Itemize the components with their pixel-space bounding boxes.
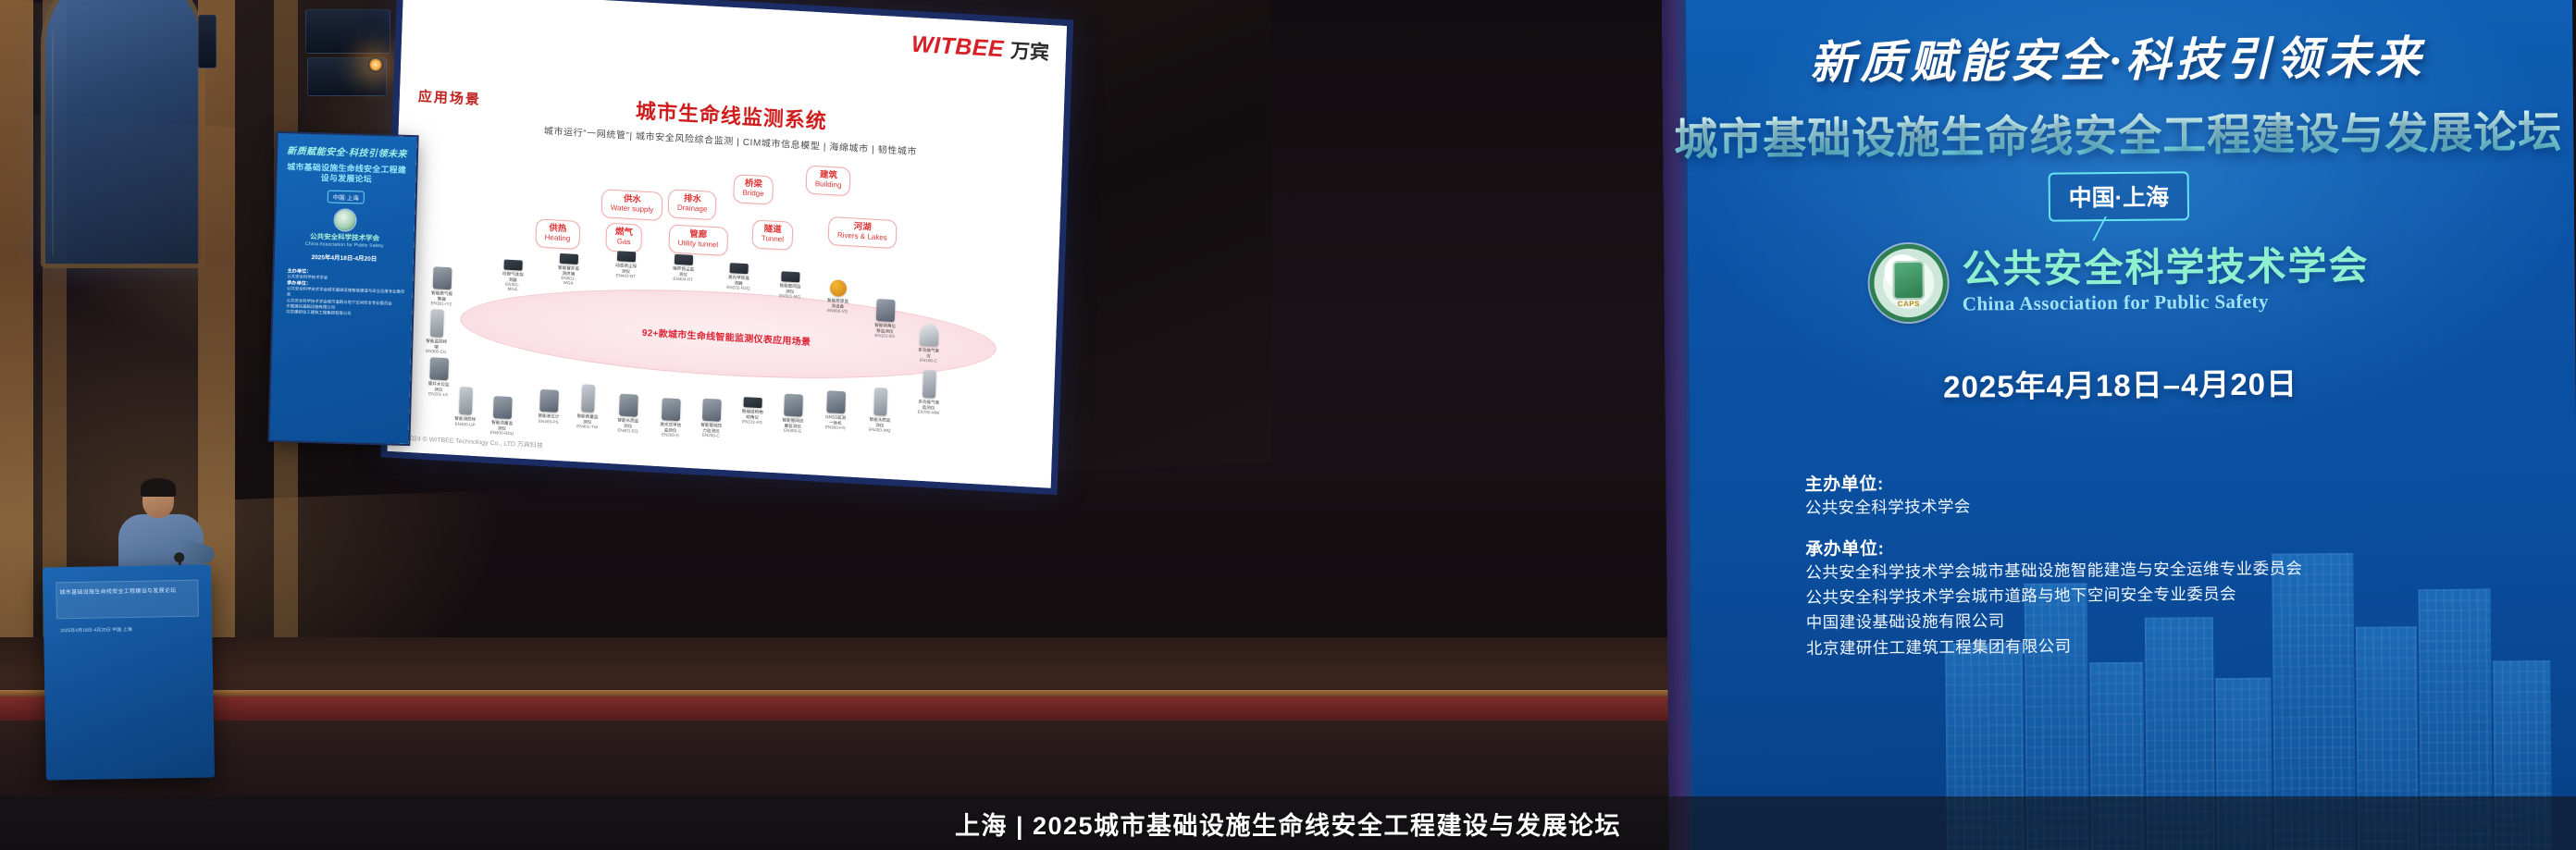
- device-item: 智能雨量监测仪 EN401-TW: [576, 384, 601, 430]
- device-item: GNSS监测一体机 EN300-HS: [824, 390, 848, 431]
- device-item: 智能倾角位移监测仪 EN101-BS: [873, 299, 898, 339]
- device-item: 多功能气象仪 EN100-C: [916, 324, 941, 364]
- conference-banner: 新质赋能安全·科技引领未来 城市基础设施生命线安全工程建设与发展论坛 中国·上海…: [1662, 0, 2576, 850]
- lifeline-diagram: 供水 Water supply 排水 Drainage 桥梁 Bridge: [411, 136, 1046, 456]
- scenario-bubble: 管廊 Utility tunnel: [668, 224, 728, 255]
- device-model: EN401-TW: [576, 424, 600, 429]
- device-icon: [662, 398, 681, 421]
- truss-bar: [198, 15, 217, 68]
- banner-slogan: 新质赋能安全·科技引领未来: [1662, 20, 2573, 94]
- witbee-logo-cn: 万宾: [1010, 36, 1050, 66]
- mini-banner-location-chip: 中国·上海: [327, 190, 365, 203]
- banner-organization-row: CAPS 公共安全科学技术学会 China Association for Pu…: [1664, 239, 2575, 325]
- device-icon: [784, 394, 803, 417]
- podium-line-2: 2025年4月18日-4月20日 中国·上海: [60, 627, 132, 635]
- device-item: 智能桥梁监测设备 EN600-VD: [825, 279, 850, 314]
- device-item: 多功能气象监测仪 EN700-MW: [916, 370, 942, 416]
- device-model: EN300-G: [781, 428, 805, 434]
- presentation-screen: WITBEE 万宾 应用场景 城市生命线监测系统 城市运行“一网统管”| 城市安…: [388, 0, 1067, 488]
- device-icon: [560, 253, 578, 265]
- device-model: EN409-PS: [537, 418, 561, 424]
- bubble-en: Building: [815, 180, 842, 191]
- speaker-array: [305, 9, 390, 54]
- bubble-en: Rivers & Lakes: [837, 231, 887, 242]
- device-item: 智能管网压力监测仪 EN200-C: [699, 399, 724, 439]
- device-icon: [876, 299, 896, 322]
- mini-banner-host-block: 主办单位： 公共安全科学技术学会 承办单位： 公共安全科学技术学会城市基础设施智…: [280, 267, 405, 319]
- device-model: EN201-LK: [427, 391, 451, 397]
- device-model: EN501-WGA: [556, 276, 580, 286]
- bubble-en: Drainage: [677, 203, 708, 214]
- device-item: 噪声扬尘监测仪 EN404-RT: [671, 254, 696, 283]
- scenario-bubble: 供热 Heating: [535, 218, 580, 249]
- device-item: 智能管网流量监测仪 EN300-G: [781, 393, 806, 434]
- device-icon: [702, 399, 722, 422]
- device-model: EN400-RDU: [489, 430, 514, 436]
- device-model: EN200-C: [699, 433, 723, 438]
- device-model: EN300-HS: [824, 425, 848, 430]
- banner-org-cn: 公共安全科学技术学会: [1962, 246, 2369, 290]
- caps-seal-text: CAPS: [1870, 300, 1948, 309]
- device-icon: [729, 263, 748, 274]
- bubble-en: Bridge: [742, 189, 763, 198]
- device-icon: [781, 271, 799, 282]
- device-model: EN301-IYZ: [429, 301, 453, 306]
- arched-window: [41, 0, 205, 268]
- scenario-bubble: 建筑 Building: [806, 166, 851, 196]
- device-model: EN401-EQ: [615, 428, 639, 434]
- banner-date: 2025年4月18日–4月20日: [1665, 357, 2575, 410]
- device-icon: [433, 266, 452, 289]
- device-model: EN404-RT: [671, 277, 695, 282]
- device-icon: [923, 370, 936, 399]
- device-icon: [675, 254, 693, 265]
- device-model: EN400-UP: [453, 421, 477, 426]
- scenario-bubble: 桥梁 Bridge: [733, 174, 774, 204]
- device-item: 智能结构物倾角仪 EN101-AS: [740, 397, 765, 425]
- device-item: 智能窨井监测终端 EN501-WGA: [556, 253, 581, 287]
- slide-footer: 2024 © WITBEE Technology Co., LTD 万宾科技: [406, 434, 543, 450]
- caps-seal-icon: CAPS: [1869, 244, 1948, 323]
- caps-seal-emblem: [1892, 260, 1924, 299]
- caption-text: 上海 | 2025城市基础设施生命线安全工程建设与发展论坛: [955, 806, 1621, 842]
- device-item: 激光式甲烷监测仪 EN200-D: [658, 398, 683, 438]
- conference-stage-photo: WITBEE 万宾 应用场景 城市生命线监测系统 城市运行“一网统管”| 城市安…: [0, 0, 2576, 850]
- device-model: EN202-RZQ: [726, 285, 750, 290]
- mini-banner-title: 城市基础设施生命线安全工程建设与发展论坛: [284, 162, 409, 185]
- scenario-bubble: 隧道 Tunnel: [751, 219, 793, 250]
- device-icon: [826, 390, 846, 413]
- banner-location-chip: 中国·上海: [2048, 171, 2189, 221]
- device-item: 动态扬尘探测仪 EN402-BT: [613, 251, 638, 279]
- caption-bar: 上海 | 2025城市基础设施生命线安全工程建设与发展论坛: [0, 796, 2576, 850]
- bubble-en: Gas: [614, 238, 632, 247]
- device-item: 智能水质监测仪 EN400-WQ: [868, 388, 894, 434]
- scenario-bubble: 供水 Water supply: [601, 189, 663, 220]
- device-model: EN700-MW: [916, 410, 940, 415]
- caps-seal-icon: [335, 209, 356, 230]
- device-item: 智能消防栓 EN400-UP: [453, 387, 478, 427]
- device-icon: [503, 259, 522, 270]
- scenario-bubble: 排水 Drainage: [668, 189, 717, 219]
- device-icon: [430, 309, 444, 338]
- slide-content: WITBEE 万宾 应用场景 城市生命线监测系统 城市运行“一网统管”| 城市安…: [388, 0, 1067, 488]
- device-item: 智能监控终端 EN300-CG: [424, 309, 450, 355]
- bubble-en: Tunnel: [762, 235, 784, 244]
- speaker-hair: [141, 478, 176, 497]
- device-icon: [539, 389, 559, 413]
- witbee-logo-en: WITBEE: [911, 31, 1005, 64]
- device-icon: [429, 357, 449, 380]
- mini-banner-slogan: 新质赋能安全·科技引领未来: [285, 142, 409, 160]
- banner-title: 城市基础设施生命线安全工程建设与发展论坛: [1663, 96, 2574, 168]
- device-item: 智能水质监测仪 EN401-EQ: [615, 393, 640, 434]
- device-icon: [920, 324, 939, 347]
- banner-org-names: 公共安全科学技术学会 China Association for Public …: [1962, 246, 2370, 315]
- spotlight: [368, 57, 383, 72]
- device-icon: [581, 384, 595, 413]
- stage-mini-banner: 新质赋能安全·科技引领未来 城市基础设施生命线安全工程建设与发展论坛 中国·上海…: [269, 133, 416, 444]
- device-model: EN301-MGA: [501, 282, 525, 292]
- device-item: 智能流量监测仪 EN400-RDU: [489, 396, 514, 437]
- device-model: EN300-CG: [424, 349, 448, 354]
- scenario-bubble: 燃气 Gas: [605, 223, 642, 253]
- device-item: 智能管网监测仪 EN501-MG: [778, 271, 803, 300]
- bubble-en: Utility tunnel: [677, 240, 718, 250]
- banner-host-value: 公共安全科学技术学会: [1805, 489, 2545, 521]
- device-icon: [619, 394, 638, 417]
- device-icon: [830, 279, 848, 297]
- device-icon: [617, 251, 636, 262]
- device-model: EN101-AS: [740, 419, 764, 425]
- banner-info-block: 主办单位: 公共安全科学技术学会 承办单位: 公共安全科学技术学会城市基础设施智…: [1804, 464, 2546, 661]
- device-item: 可燃气体探测器 EN301-MGA: [501, 259, 526, 292]
- banner-org-en: China Association for Public Safety: [1963, 289, 2370, 315]
- device-model: EN200-D: [658, 432, 682, 437]
- scenario-bubble: 河湖 Rivers & Lakes: [828, 216, 898, 249]
- device-model: EN402-BT: [613, 274, 638, 279]
- device-item: 智能燃气报警器 EN301-IYZ: [429, 266, 454, 307]
- podium: 城市基础设施生命线安全工程建设与发展论坛 2025年4月18日-4月20日 中国…: [43, 564, 215, 780]
- bubble-en: Heating: [545, 234, 571, 243]
- device-icon: [873, 388, 887, 416]
- device-item: 智能液位计 EN409-PS: [537, 389, 562, 425]
- device-icon: [743, 397, 762, 408]
- device-item: 窨井水位监测仪 EN201-LK: [427, 357, 452, 398]
- mini-banner-date: 2025年4月18日-4月20日: [282, 251, 406, 264]
- device-item: 激光甲烷遥测器 EN202-RZQ: [726, 263, 751, 291]
- bubble-en: Water supply: [611, 203, 654, 215]
- device-model: EN400-WQ: [868, 427, 892, 433]
- device-icon: [493, 396, 513, 419]
- device-icon: [459, 387, 473, 415]
- witbee-logo: WITBEE 万宾: [911, 31, 1050, 66]
